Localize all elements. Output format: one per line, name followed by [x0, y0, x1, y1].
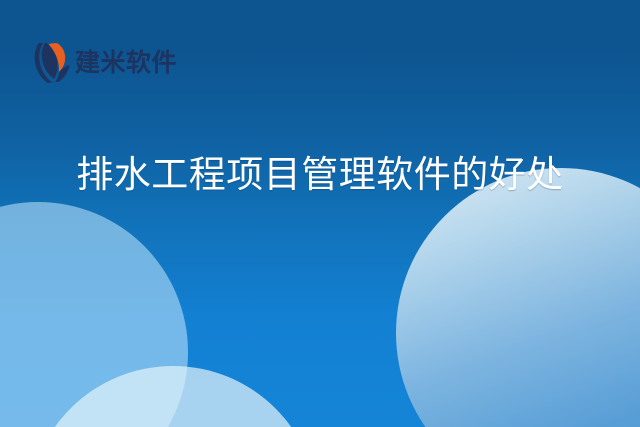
brand-logo: 建米软件 [34, 41, 177, 85]
decorative-circle-right [396, 168, 640, 427]
slide-canvas: 建米软件 排水工程项目管理软件的好处 [0, 0, 640, 427]
page-title: 排水工程项目管理软件的好处 [0, 152, 640, 200]
decorative-circle-left-low [28, 366, 318, 427]
brand-wordmark: 建米软件 [75, 51, 177, 76]
jianmi-leaf-logo-icon [34, 41, 70, 85]
decorative-circle-left-mid [0, 202, 188, 427]
